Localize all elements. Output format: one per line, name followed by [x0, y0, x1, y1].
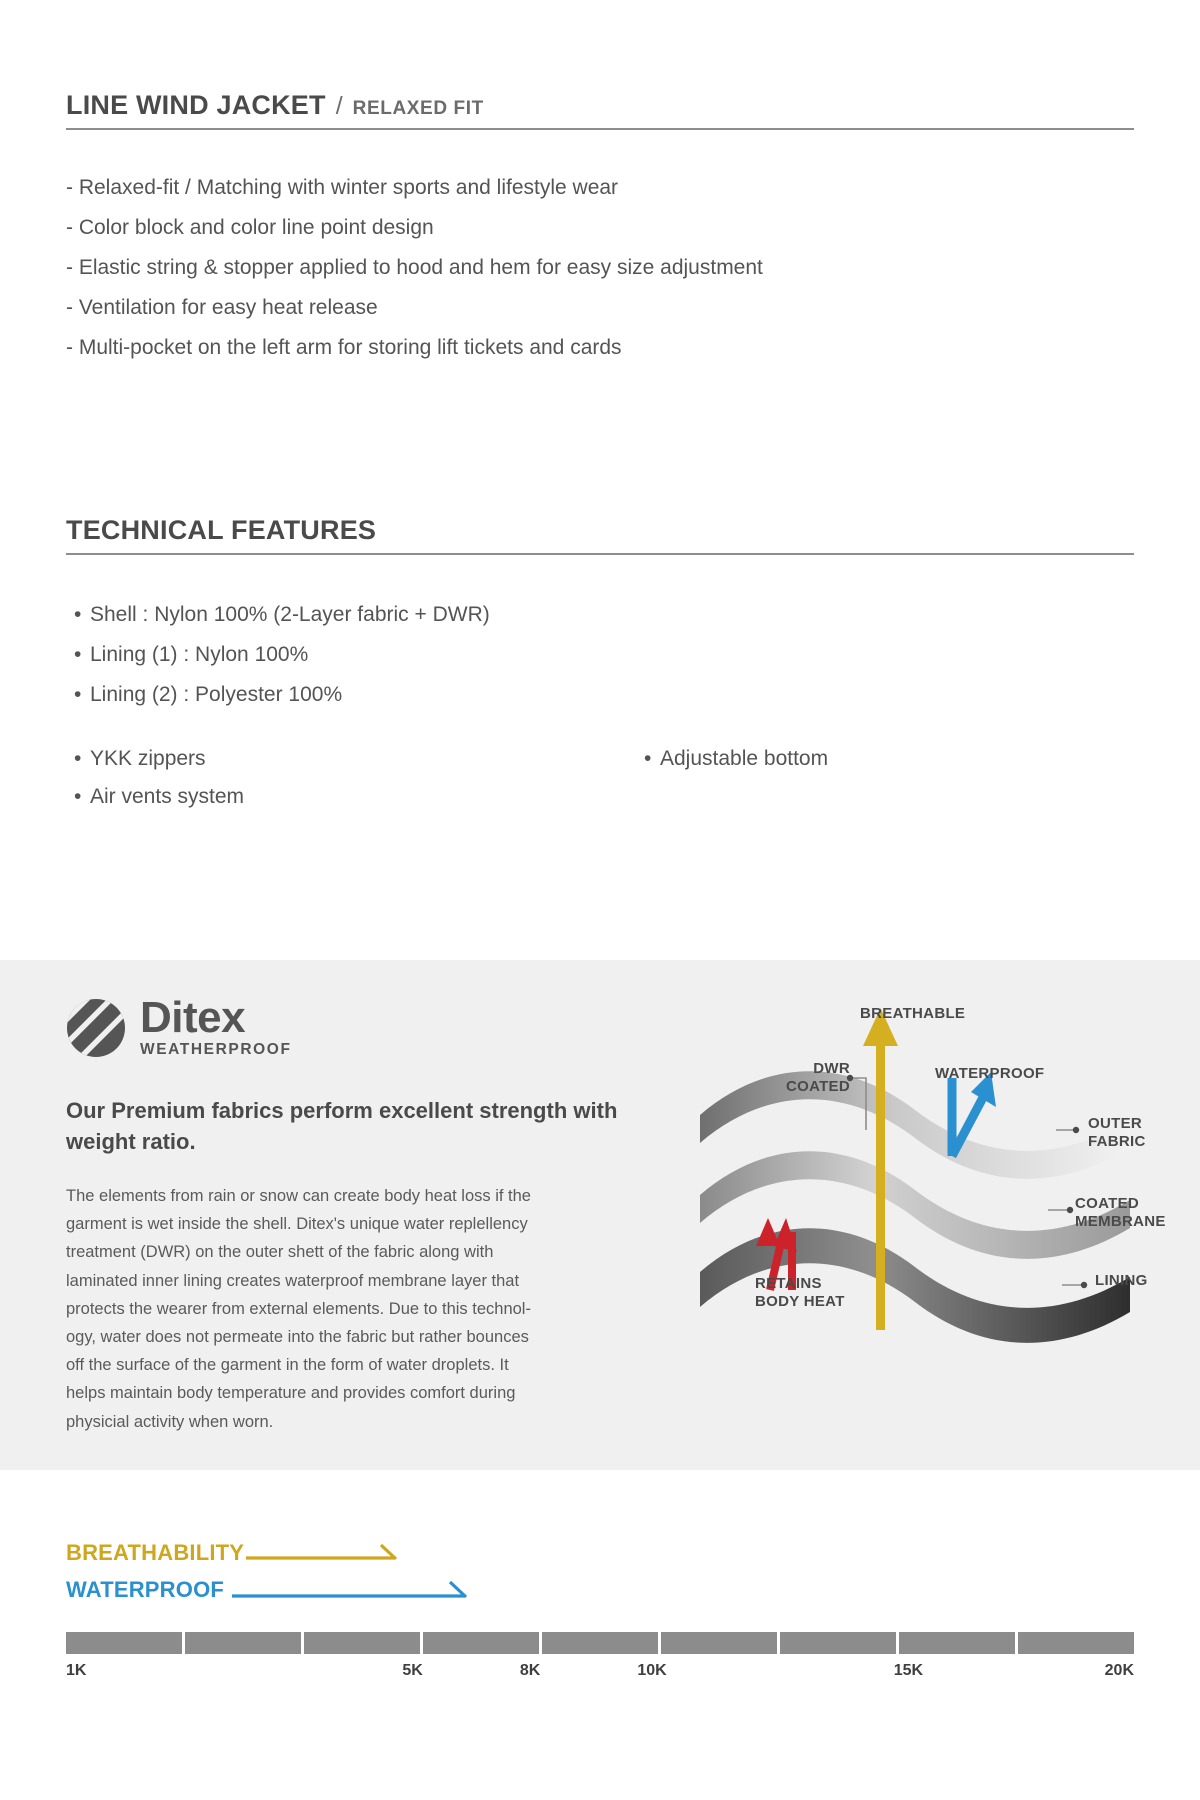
- list-item: •Adjustable bottom: [644, 740, 828, 778]
- breathability-indicator-arrow-icon: [244, 1540, 404, 1566]
- diagram-label-dwr-coated: DWR COATED: [760, 1060, 850, 1096]
- bullet-glyph: •: [74, 778, 90, 816]
- scale-tick-label: 10K: [637, 1662, 666, 1680]
- list-item-label: YKK zippers: [90, 747, 206, 770]
- list-item-label: Lining (2) : Polyester 100%: [90, 683, 342, 706]
- scale-tick-labels: 1K 5K 8K 10K 15K 20K: [66, 1662, 1134, 1688]
- paragraph-line: garment is wet inside the shell. Ditex's…: [66, 1210, 666, 1238]
- paragraph-line: ogy, water does not permeate into the fa…: [66, 1323, 666, 1351]
- list-item: - Multi-pocket on the left arm for stori…: [66, 328, 763, 368]
- brand-headline: Our Premium fabrics perform excellent st…: [66, 1095, 666, 1157]
- outer-line-2: FABRIC: [1088, 1133, 1146, 1151]
- waterproof-label: WATERPROOF: [66, 1577, 224, 1603]
- product-title-header: LINE WIND JACKET / RELAXED FIT: [66, 90, 1134, 130]
- diagram-label-lining: LINING: [1095, 1272, 1148, 1290]
- retains-line-1: RETAINS: [755, 1275, 845, 1293]
- paragraph-line: treatment (DWR) on the outer shett of th…: [66, 1238, 666, 1266]
- logo-wordmark: Ditex WEATHERPROOF: [140, 995, 292, 1058]
- scale-tick-label: 1K: [66, 1662, 86, 1680]
- breathability-rating-row: BREATHABILITY: [66, 1540, 404, 1566]
- list-item-label: Shell : Nylon 100% (2-Layer fabric + DWR…: [90, 603, 490, 626]
- list-item: •Lining (2) : Polyester 100%: [74, 675, 490, 715]
- coated-line-1: COATED: [1075, 1195, 1166, 1213]
- product-feature-list: - Relaxed-fit / Matching with winter spo…: [66, 168, 763, 368]
- outer-line-1: OUTER: [1088, 1115, 1146, 1133]
- ditex-logo: Ditex WEATHERPROOF: [66, 995, 292, 1058]
- paragraph-line: off the surface of the garment in the fo…: [66, 1351, 666, 1379]
- brand-headline-line: Our Premium fabrics perform excellent st…: [66, 1098, 567, 1123]
- paragraph-line: physicial activity when worn.: [66, 1408, 666, 1436]
- scale-segment: [542, 1632, 658, 1654]
- logo-tagline: WEATHERPROOF: [140, 1042, 292, 1058]
- scale-segment: [780, 1632, 896, 1654]
- scale-segment: [304, 1632, 420, 1654]
- brand-description: The elements from rain or snow can creat…: [66, 1182, 666, 1436]
- feature-column-left: •YKK zippers •Air vents system: [74, 740, 644, 816]
- bullet-glyph: •: [74, 595, 90, 635]
- list-item: •Air vents system: [74, 778, 644, 816]
- list-item: - Ventilation for easy heat release: [66, 288, 763, 328]
- page-title: LINE WIND JACKET: [66, 90, 326, 121]
- list-item: - Relaxed-fit / Matching with winter spo…: [66, 168, 763, 208]
- fit-subtitle: RELAXED FIT: [353, 98, 484, 120]
- performance-scale-bar: [66, 1632, 1134, 1654]
- bullet-glyph: •: [644, 740, 660, 778]
- list-item: •YKK zippers: [74, 740, 644, 778]
- ditex-logo-mark-icon: [66, 998, 126, 1058]
- bullet-glyph: •: [74, 675, 90, 715]
- feature-columns: •YKK zippers •Air vents system •Adjustab…: [74, 740, 954, 816]
- bullet-glyph: •: [74, 635, 90, 675]
- bullet-glyph: •: [74, 740, 90, 778]
- paragraph-line: protects the wearer from external elemen…: [66, 1295, 666, 1323]
- scale-segment: [1018, 1632, 1134, 1654]
- list-item-label: Lining (1) : Nylon 100%: [90, 643, 308, 666]
- paragraph-line: The elements from rain or snow can creat…: [66, 1182, 666, 1210]
- feature-list-left: •YKK zippers •Air vents system: [74, 740, 644, 816]
- scale-tick-label: 20K: [1105, 1662, 1134, 1680]
- materials-list: •Shell : Nylon 100% (2-Layer fabric + DW…: [74, 595, 490, 715]
- paragraph-line: laminated inner lining creates waterproo…: [66, 1267, 666, 1295]
- list-item: •Shell : Nylon 100% (2-Layer fabric + DW…: [74, 595, 490, 635]
- list-item-label: Air vents system: [90, 785, 244, 808]
- brand-technology-panel: Ditex WEATHERPROOF Our Premium fabrics p…: [0, 960, 1200, 1470]
- title-separator: /: [336, 92, 343, 121]
- scale-tick-label: 15K: [894, 1662, 923, 1680]
- paragraph-line: helps maintain body temperature and prov…: [66, 1379, 666, 1407]
- performance-rating-section: BREATHABILITY WATERPROOF 1K 5K 8K 10K 15…: [0, 1470, 1200, 1800]
- scale-tick-label: 5K: [402, 1662, 422, 1680]
- title-row: TECHNICAL FEATURES: [66, 515, 1134, 555]
- product-spec-section: LINE WIND JACKET / RELAXED FIT - Relaxed…: [0, 0, 1200, 960]
- waterproof-indicator-arrow-icon: [224, 1577, 474, 1603]
- coated-line-2: MEMBRANE: [1075, 1213, 1166, 1231]
- scale-tick-label: 8K: [520, 1662, 540, 1680]
- scale-segment: [423, 1632, 539, 1654]
- retains-line-2: BODY HEAT: [755, 1293, 845, 1311]
- diagram-label-retains-body-heat: RETAINS BODY HEAT: [755, 1275, 845, 1311]
- dwr-line-2: COATED: [760, 1078, 850, 1096]
- dwr-line-1: DWR: [760, 1060, 850, 1078]
- list-item: - Color block and color line point desig…: [66, 208, 763, 248]
- diagram-label-waterproof: WATERPROOF: [935, 1065, 1044, 1083]
- scale-segment: [661, 1632, 777, 1654]
- diagram-label-coated-membrane: COATED MEMBRANE: [1075, 1195, 1166, 1231]
- fabric-layer-diagram: BREATHABLE WATERPROOF DWR COATED RETAINS…: [700, 960, 1200, 1470]
- feature-list-right: •Adjustable bottom: [644, 740, 828, 778]
- list-item: - Elastic string & stopper applied to ho…: [66, 248, 763, 288]
- feature-column-right: •Adjustable bottom: [644, 740, 828, 778]
- scale-segment: [899, 1632, 1015, 1654]
- list-item-label: Adjustable bottom: [660, 747, 828, 770]
- breathability-label: BREATHABILITY: [66, 1540, 244, 1566]
- scale-segment: [66, 1632, 182, 1654]
- list-item: •Lining (1) : Nylon 100%: [74, 635, 490, 675]
- title-row: LINE WIND JACKET / RELAXED FIT: [66, 90, 1134, 130]
- section-title: TECHNICAL FEATURES: [66, 515, 376, 546]
- diagram-label-outer-fabric: OUTER FABRIC: [1088, 1115, 1146, 1151]
- diagram-label-breathable: BREATHABLE: [860, 1005, 965, 1023]
- logo-name: Ditex: [140, 995, 292, 1041]
- waterproof-rating-row: WATERPROOF: [66, 1577, 474, 1603]
- scale-segment: [185, 1632, 301, 1654]
- technical-features-header: TECHNICAL FEATURES: [66, 515, 1134, 555]
